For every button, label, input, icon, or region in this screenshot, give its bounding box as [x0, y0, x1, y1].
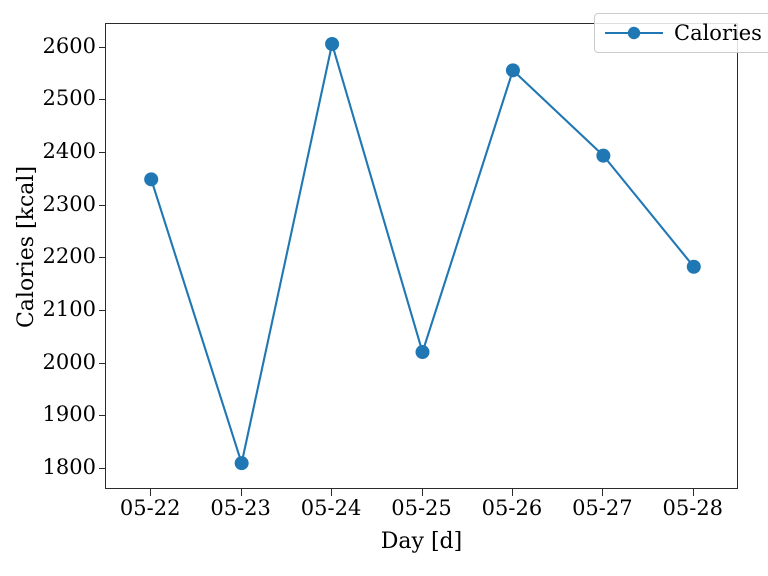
legend-entry-label: Calories [674, 23, 762, 44]
data-point-marker[interactable] [235, 456, 249, 470]
data-point-marker[interactable] [325, 37, 339, 51]
x-tick-label-text: 05-28 [633, 498, 753, 519]
data-point-marker[interactable] [596, 149, 610, 163]
legend-marker-icon [603, 23, 665, 43]
data-point-marker[interactable] [506, 63, 520, 77]
data-point-marker[interactable] [416, 345, 430, 359]
data-point-marker[interactable] [144, 172, 158, 186]
y-axis-label-wrap: Calories [kcal] [0, 233, 278, 261]
x-axis-label: Day [d] [105, 529, 738, 554]
chart-figure: 180019002000210022002300240025002600 05-… [0, 0, 768, 576]
data-point-marker[interactable] [687, 260, 701, 274]
legend[interactable]: Calories [594, 13, 768, 53]
y-axis-label: Calories [kcal] [14, 0, 39, 497]
